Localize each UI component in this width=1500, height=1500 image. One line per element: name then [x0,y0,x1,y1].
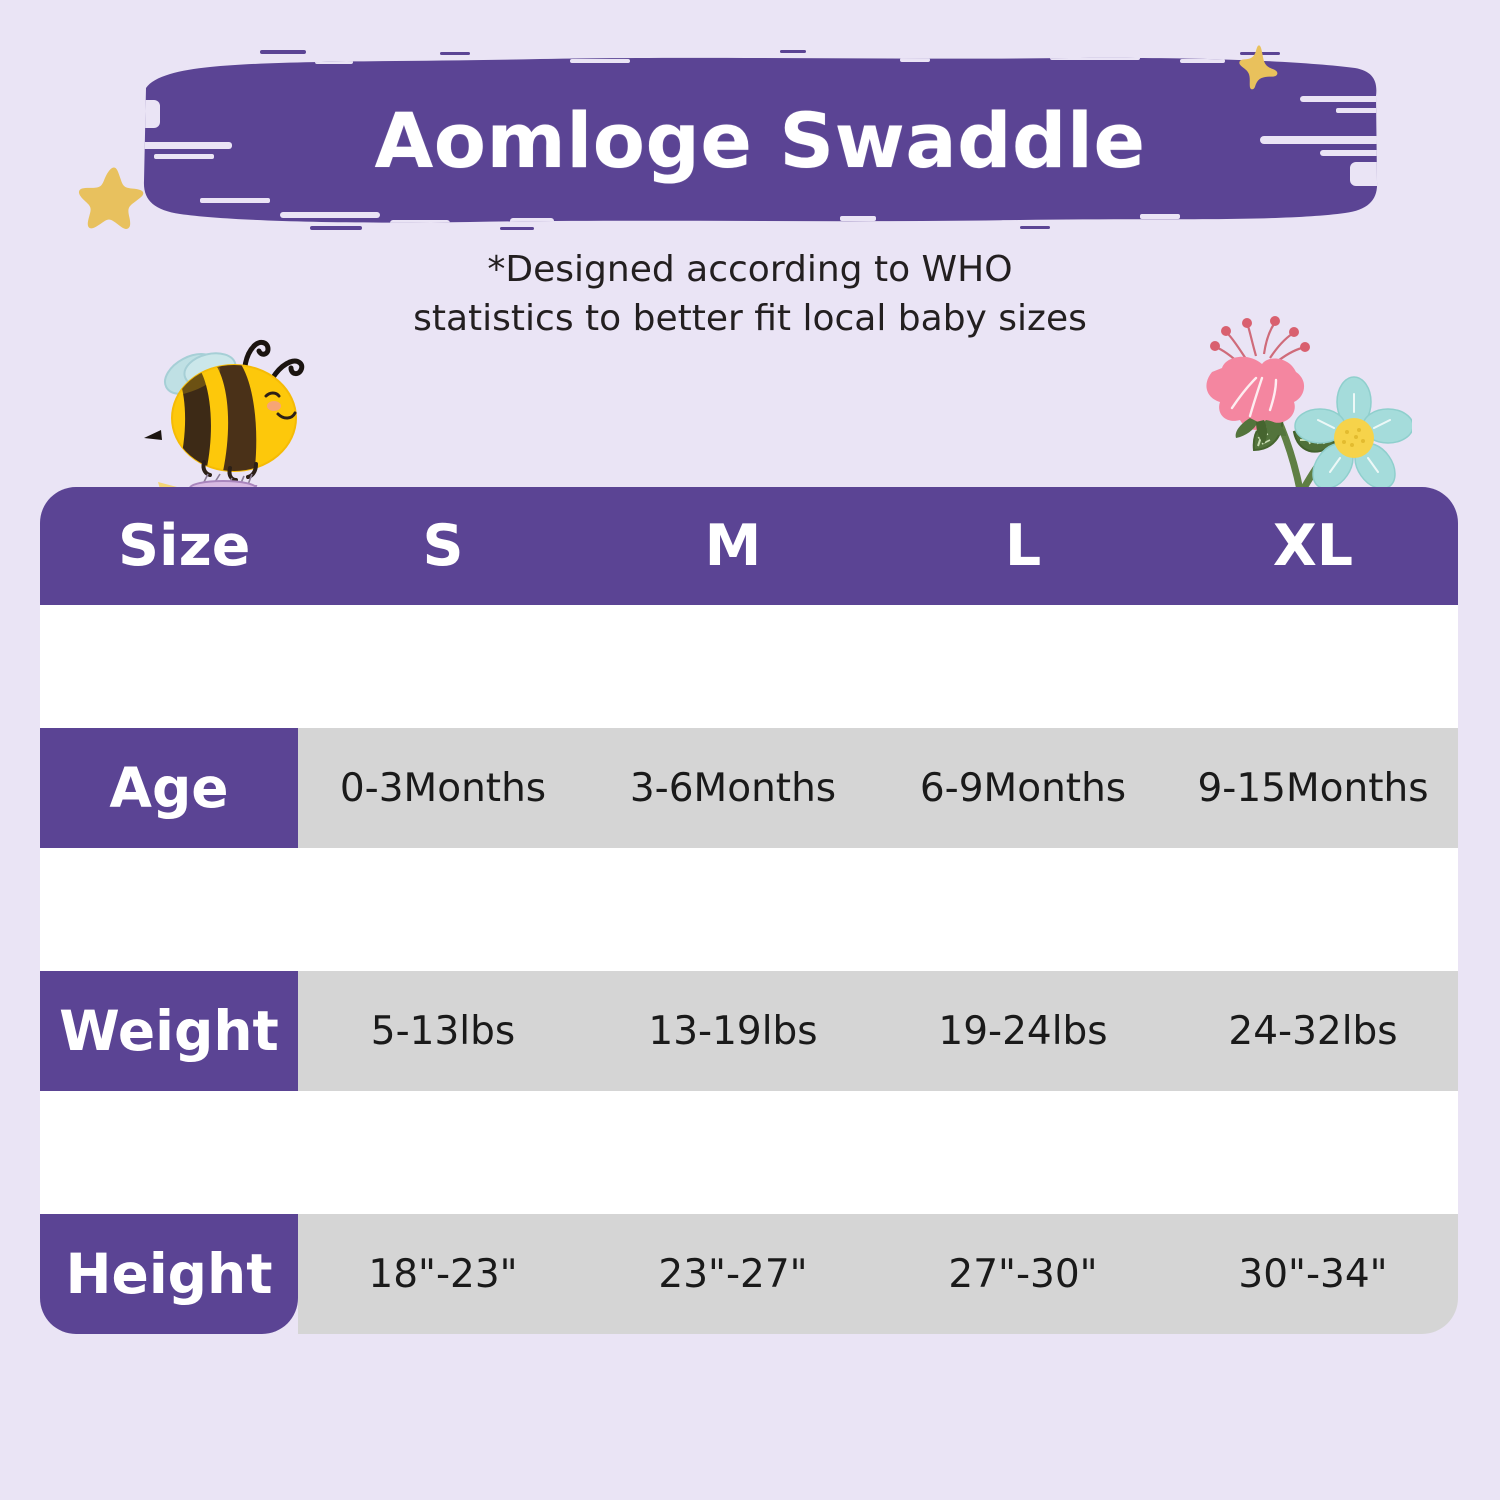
row-label-age: Age [40,728,298,848]
cell-height-xl: 30"-34" [1168,1214,1458,1334]
cell-weight-m: 13-19lbs [588,971,878,1091]
table-spacer-row [40,848,1458,971]
star-icon [1238,44,1280,90]
size-chart-table: Size S M L XL Age 0-3Months 3-6Months 6-… [40,487,1458,1334]
table-row: Age 0-3Months 3-6Months 6-9Months 9-15Mo… [40,728,1458,848]
table-spacer-row [40,1091,1458,1214]
table-row: Weight 5-13lbs 13-19lbs 19-24lbs 24-32lb… [40,971,1458,1091]
row-label-height: Height [40,1214,298,1334]
table-header-m: M [588,487,878,605]
flowers-illustration [1182,310,1412,496]
cell-weight-xl: 24-32lbs [1168,971,1458,1091]
cell-height-l: 27"-30" [878,1214,1168,1334]
cell-height-m: 23"-27" [588,1214,878,1334]
table-spacer-row [40,605,1458,728]
cell-age-l: 6-9Months [878,728,1168,848]
star-icon [78,162,146,230]
table-header-row: Size S M L XL [40,487,1458,605]
table-header-size: Size [40,487,298,605]
cell-height-s: 18"-23" [298,1214,588,1334]
table-header-s: S [298,487,588,605]
table-row: Height 18"-23" 23"-27" 27"-30" 30"-34" [40,1214,1458,1334]
cell-weight-s: 5-13lbs [298,971,588,1091]
page-title: Aomloge Swaddle [140,50,1380,230]
table-header-xl: XL [1168,487,1458,605]
banner: Aomloge Swaddle [0,0,1500,250]
cell-age-xl: 9-15Months [1168,728,1458,848]
cell-age-s: 0-3Months [298,728,588,848]
row-label-weight: Weight [40,971,298,1091]
cell-weight-l: 19-24lbs [878,971,1168,1091]
cell-age-m: 3-6Months [588,728,878,848]
subtitle-line-1: *Designed according to WHO [0,246,1500,295]
table-header-l: L [878,487,1168,605]
